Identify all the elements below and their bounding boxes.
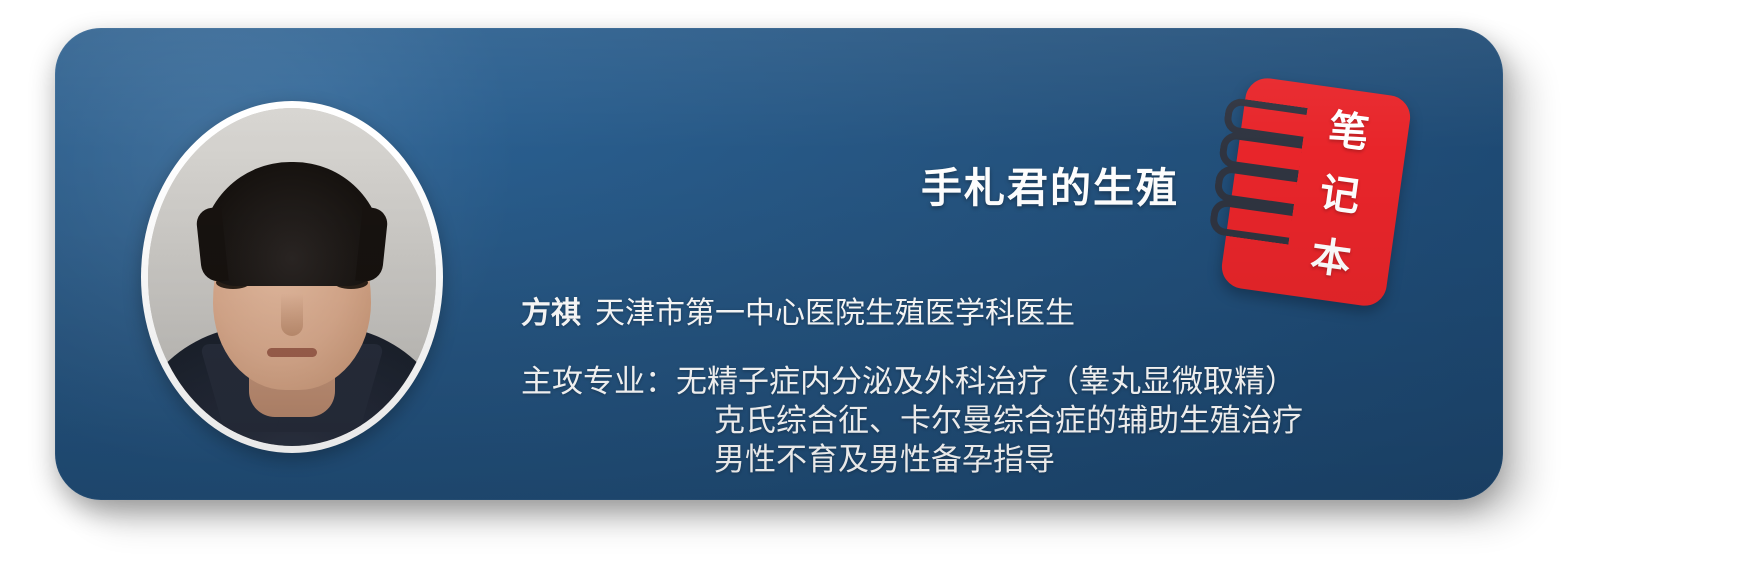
specialty-line-2: 克氏综合征、卡尔曼综合症的辅助生殖治疗 bbox=[521, 401, 1303, 440]
poster-canvas: 手札君的生殖 笔 记 本 方祺天津市第一中心医院生殖医学科医生 主攻专业：无精子… bbox=[0, 0, 1738, 586]
photo-mouth bbox=[267, 348, 317, 357]
notebook-char-2: 记 bbox=[1317, 173, 1362, 218]
notebook-char-1: 笔 bbox=[1326, 109, 1371, 154]
notebook-char-3: 本 bbox=[1308, 236, 1353, 281]
specialty-line-3: 男性不育及男性备孕指导 bbox=[521, 440, 1303, 479]
avatar-photo bbox=[148, 108, 436, 446]
specialty-block: 主攻专业：无精子症内分泌及外科治疗（睾丸显微取精） 克氏综合征、卡尔曼综合症的辅… bbox=[521, 362, 1303, 479]
photo-nose bbox=[281, 294, 303, 336]
notebook-icon: 笔 记 本 bbox=[1219, 75, 1413, 308]
specialty-label: 主攻专业： bbox=[521, 364, 676, 399]
doctor-affiliation: 天津市第一中心医院生殖医学科医生 bbox=[595, 297, 1075, 330]
profile-card: 手札君的生殖 笔 记 本 方祺天津市第一中心医院生殖医学科医生 主攻专业：无精子… bbox=[55, 28, 1503, 500]
doctor-credentials: 方祺天津市第一中心医院生殖医学科医生 bbox=[521, 288, 1075, 332]
specialty-line-1: 无精子症内分泌及外科治疗（睾丸显微取精） bbox=[676, 364, 1296, 399]
doctor-name: 方祺 bbox=[521, 297, 581, 330]
page-title: 手札君的生殖 bbox=[921, 154, 1179, 214]
avatar bbox=[141, 101, 443, 453]
